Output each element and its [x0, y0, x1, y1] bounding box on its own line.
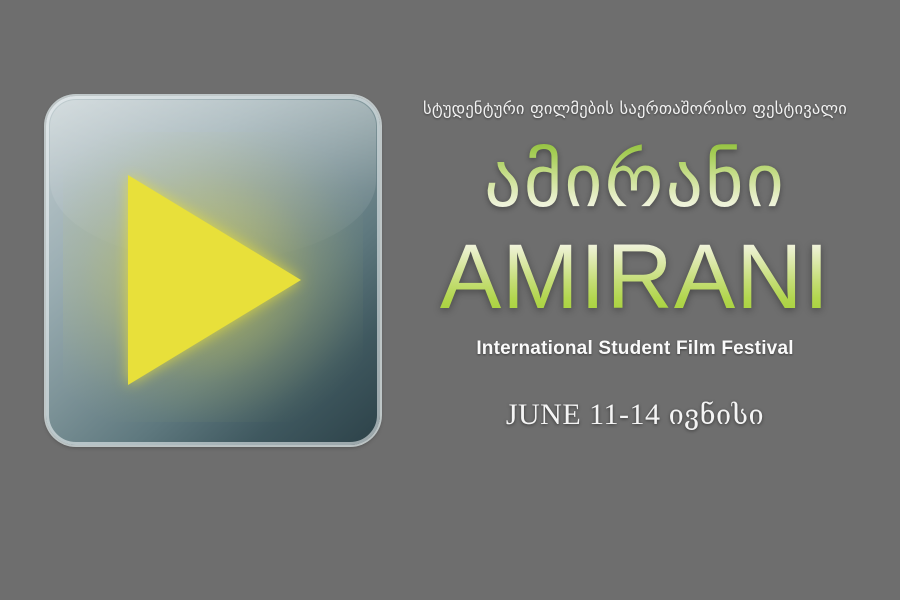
- play-button-icon: [46, 96, 380, 445]
- date-latin: JUNE 11-14: [506, 398, 661, 431]
- english-subtitle: International Student Film Festival: [404, 338, 866, 360]
- festival-poster: სტუდენტური ფილმების საერთაშორისო ფესტივა…: [0, 0, 900, 600]
- latin-festival-title: AMIRANI: [404, 232, 866, 322]
- festival-date-line: JUNE 11-14 ივნისი: [404, 398, 866, 432]
- georgian-festival-title: ამირანი: [404, 142, 866, 222]
- georgian-tagline: სტუდენტური ფილმების საერთაშორისო ფესტივა…: [404, 100, 866, 118]
- poster-text-block: სტუდენტური ფილმების საერთაშორისო ფესტივა…: [404, 100, 866, 432]
- play-triangle-icon: [128, 175, 301, 385]
- date-georgian: ივნისი: [669, 400, 765, 431]
